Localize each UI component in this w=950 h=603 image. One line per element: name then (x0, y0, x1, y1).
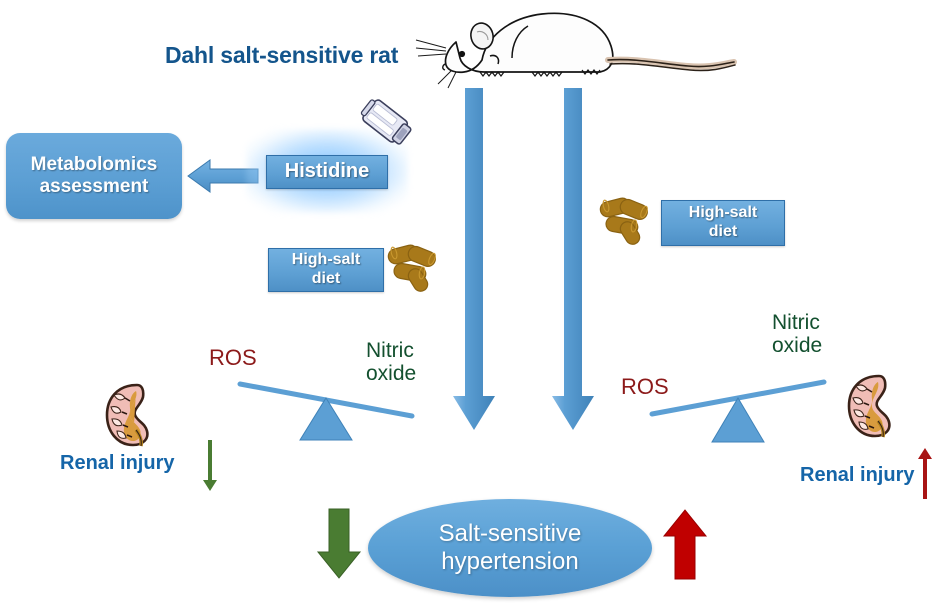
histidine-box[interactable]: Histidine (266, 155, 388, 189)
ros-label-left: ROS (209, 345, 257, 371)
renal-injury-label-right: Renal injury (800, 464, 914, 487)
hsd-left-line1: High-salt (292, 251, 360, 270)
renal-injury-decrease-arrow-left (202, 440, 218, 492)
food-pellets-icon (386, 241, 442, 297)
no-left-line1: Nitric (366, 340, 416, 363)
injection-vial-icon (353, 98, 413, 156)
page-title: Dahl salt-sensitive rat (165, 42, 398, 69)
food-pellets-icon (598, 194, 654, 250)
no-right-line1: Nitric (772, 312, 822, 335)
renal-injury-increase-arrow-right (917, 447, 933, 499)
big-down-arrow-icon (452, 88, 496, 432)
hypertension-increase-arrow (662, 508, 708, 580)
nitric-oxide-label-left: Nitric oxide (366, 340, 416, 385)
hypertension-decrease-arrow (316, 508, 362, 580)
high-salt-diet-box-right[interactable]: High-salt diet (661, 200, 785, 246)
outcome-line1: Salt-sensitive (439, 520, 582, 548)
metabolomics-assessment-box[interactable]: Metabolomics assessment (6, 133, 182, 219)
hsd-left-line2: diet (292, 270, 360, 289)
salt-sensitive-hypertension-node[interactable]: Salt-sensitive hypertension (368, 499, 652, 597)
kidney-icon (845, 374, 897, 438)
balance-seesaw-left (236, 380, 416, 446)
high-salt-diet-box-left[interactable]: High-salt diet (268, 248, 384, 292)
outcome-line2: hypertension (439, 548, 582, 576)
hsd-right-line2: diet (689, 223, 757, 242)
big-down-arrow-icon (551, 88, 595, 432)
nitric-oxide-label-right: Nitric oxide (772, 312, 822, 357)
renal-injury-label-left: Renal injury (60, 452, 174, 475)
hsd-right-line1: High-salt (689, 204, 757, 223)
diagram-canvas: Dahl salt-sensitive rat (0, 0, 950, 603)
laboratory-rat-icon (412, 2, 742, 94)
histidine-label: Histidine (285, 160, 369, 184)
kidney-icon (103, 383, 155, 447)
balance-seesaw-right (648, 352, 828, 448)
metabolomics-line1: Metabolomics (31, 154, 158, 176)
metabolomics-line2: assessment (31, 176, 158, 198)
